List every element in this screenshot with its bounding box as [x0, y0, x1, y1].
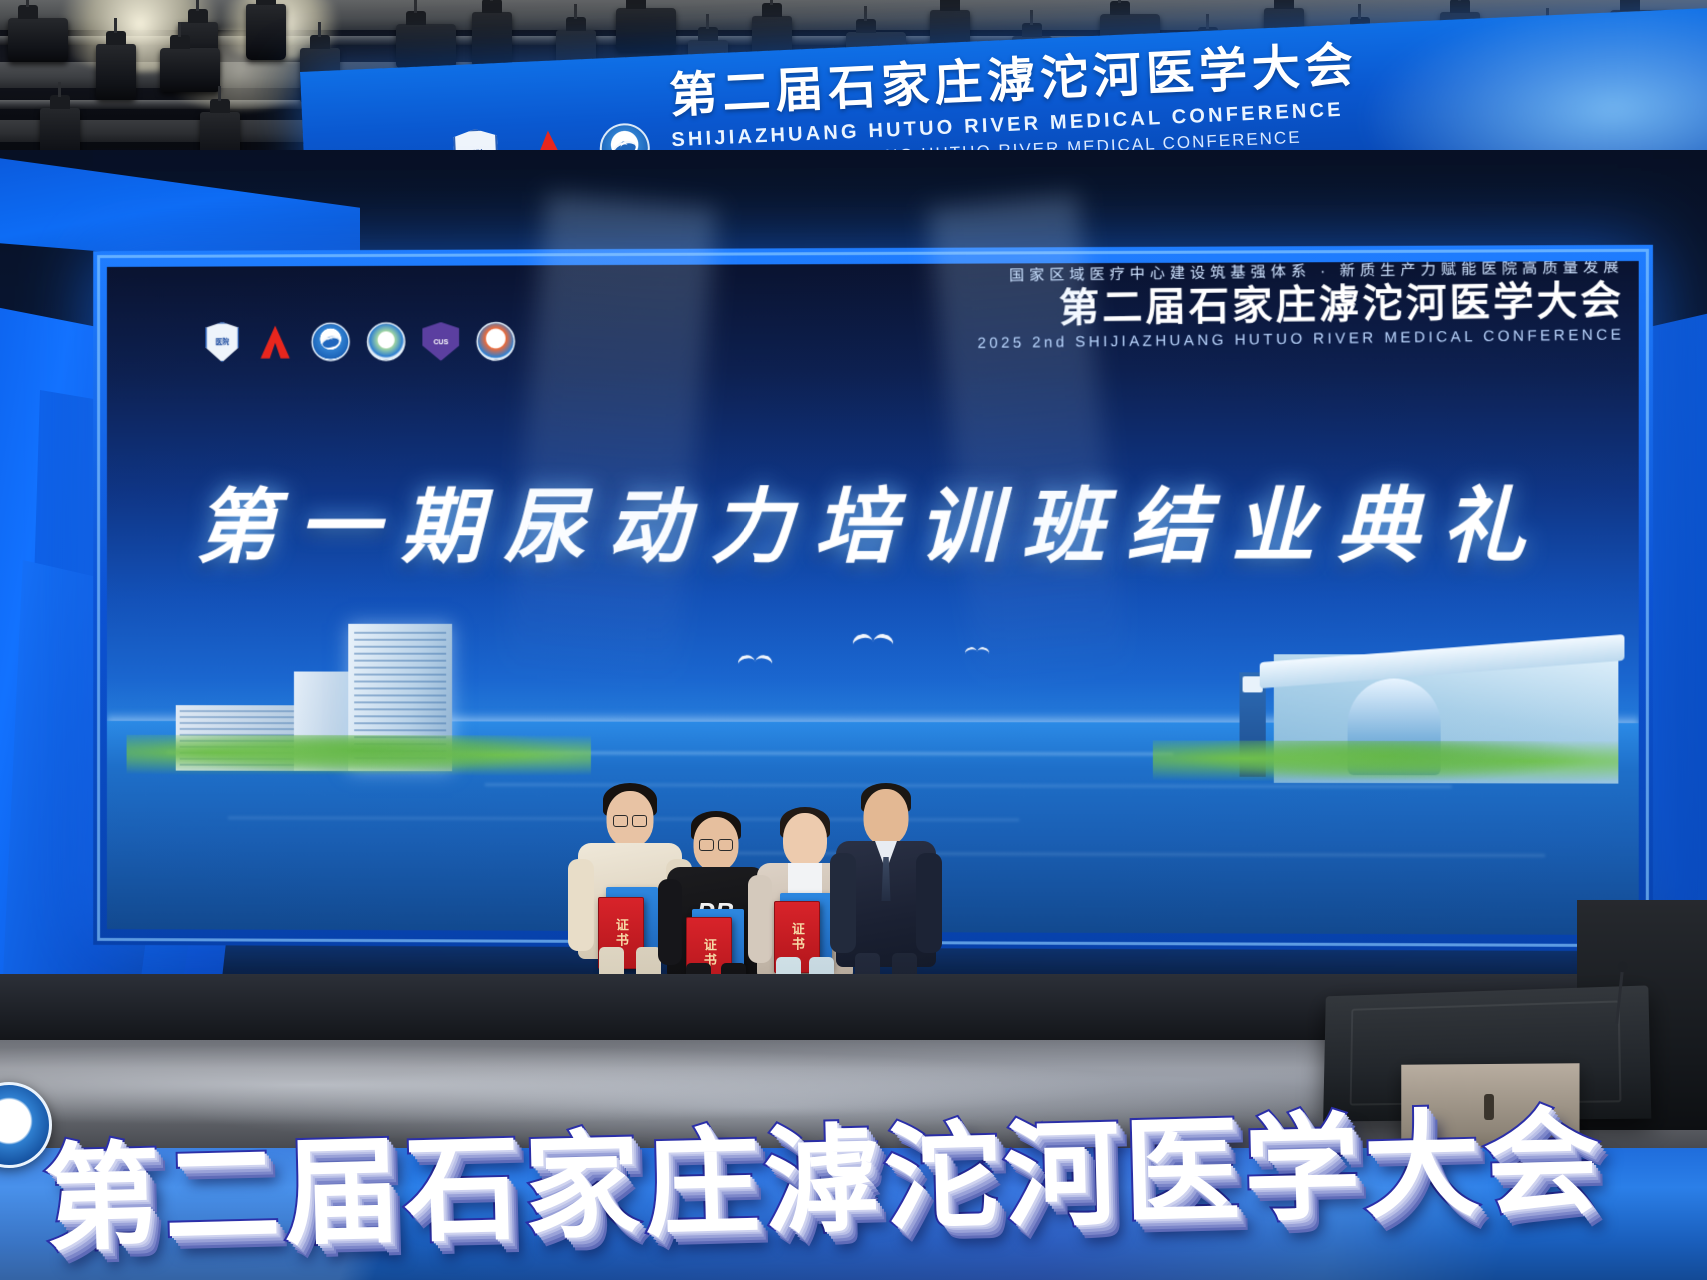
title-char: 会: [1482, 1105, 1601, 1224]
arm-left: [830, 853, 856, 953]
tree-line-right: [1153, 740, 1618, 785]
face: [783, 813, 827, 867]
title-char: 学: [1242, 1111, 1361, 1230]
title-char: 沱: [883, 1119, 1002, 1238]
spotlight-fixture: [246, 4, 286, 60]
spotlight-fixture: [96, 44, 136, 100]
title-char: 河: [1003, 1116, 1122, 1235]
title-char: 第: [43, 1140, 162, 1259]
red-triangle-icon: [256, 324, 294, 360]
title-char: 滹: [763, 1122, 882, 1241]
glasses-icon: [699, 839, 733, 850]
spotlight-fixture: [8, 18, 68, 62]
bird-icon: [965, 647, 989, 656]
arm-left: [658, 879, 682, 965]
tree-line-left: [127, 735, 591, 780]
spotlight-fixture: [472, 12, 512, 68]
spotlight-fixture: [160, 48, 220, 92]
spotlight-fixture: [396, 24, 456, 68]
hospital-shield-icon: 医院: [205, 322, 239, 362]
conference-stage-photo: 医院 第二届石家庄滹沱河医学大会 SHIJIAZHUANG HUTUO RIVE…: [0, 0, 1707, 1280]
title-char: 石: [403, 1131, 522, 1250]
title-char: 庄: [643, 1125, 762, 1244]
arm-right: [916, 853, 942, 953]
led-main-title: 第一期尿动力培训班结业典礼: [107, 459, 1639, 579]
title-char: 二: [163, 1137, 282, 1256]
purple-shield-cus-icon: CUS: [422, 322, 459, 361]
title-char: 家: [523, 1128, 642, 1247]
led-conference-title-cn: 第二届石家庄滹沱河医学大会: [977, 281, 1624, 330]
green-white-circle-icon: [367, 322, 406, 361]
necktie: [882, 857, 891, 901]
arm-left: [748, 875, 772, 963]
title-char: 医: [1122, 1113, 1241, 1232]
title-char: 届: [283, 1134, 402, 1253]
spotlight-fixture: [616, 8, 676, 52]
orange-blue-emblem-icon: [476, 322, 515, 361]
led-header-block: 国家区域医疗中心建设筑基强体系 · 新质生产力赋能医院高质量发展 第二届石家庄滹…: [977, 261, 1625, 352]
arm-left: [568, 859, 594, 951]
bird-icon: [738, 655, 772, 668]
led-logo-row: 医院 CUS: [205, 321, 515, 362]
title-char: 大: [1362, 1108, 1481, 1227]
blue-dove-circle-icon: [311, 322, 350, 361]
face: [864, 789, 909, 845]
bird-icon: [853, 634, 893, 649]
glasses-icon: [613, 815, 647, 826]
certificate-label: 证书: [614, 918, 628, 948]
certificate-label: 证书: [790, 922, 804, 952]
